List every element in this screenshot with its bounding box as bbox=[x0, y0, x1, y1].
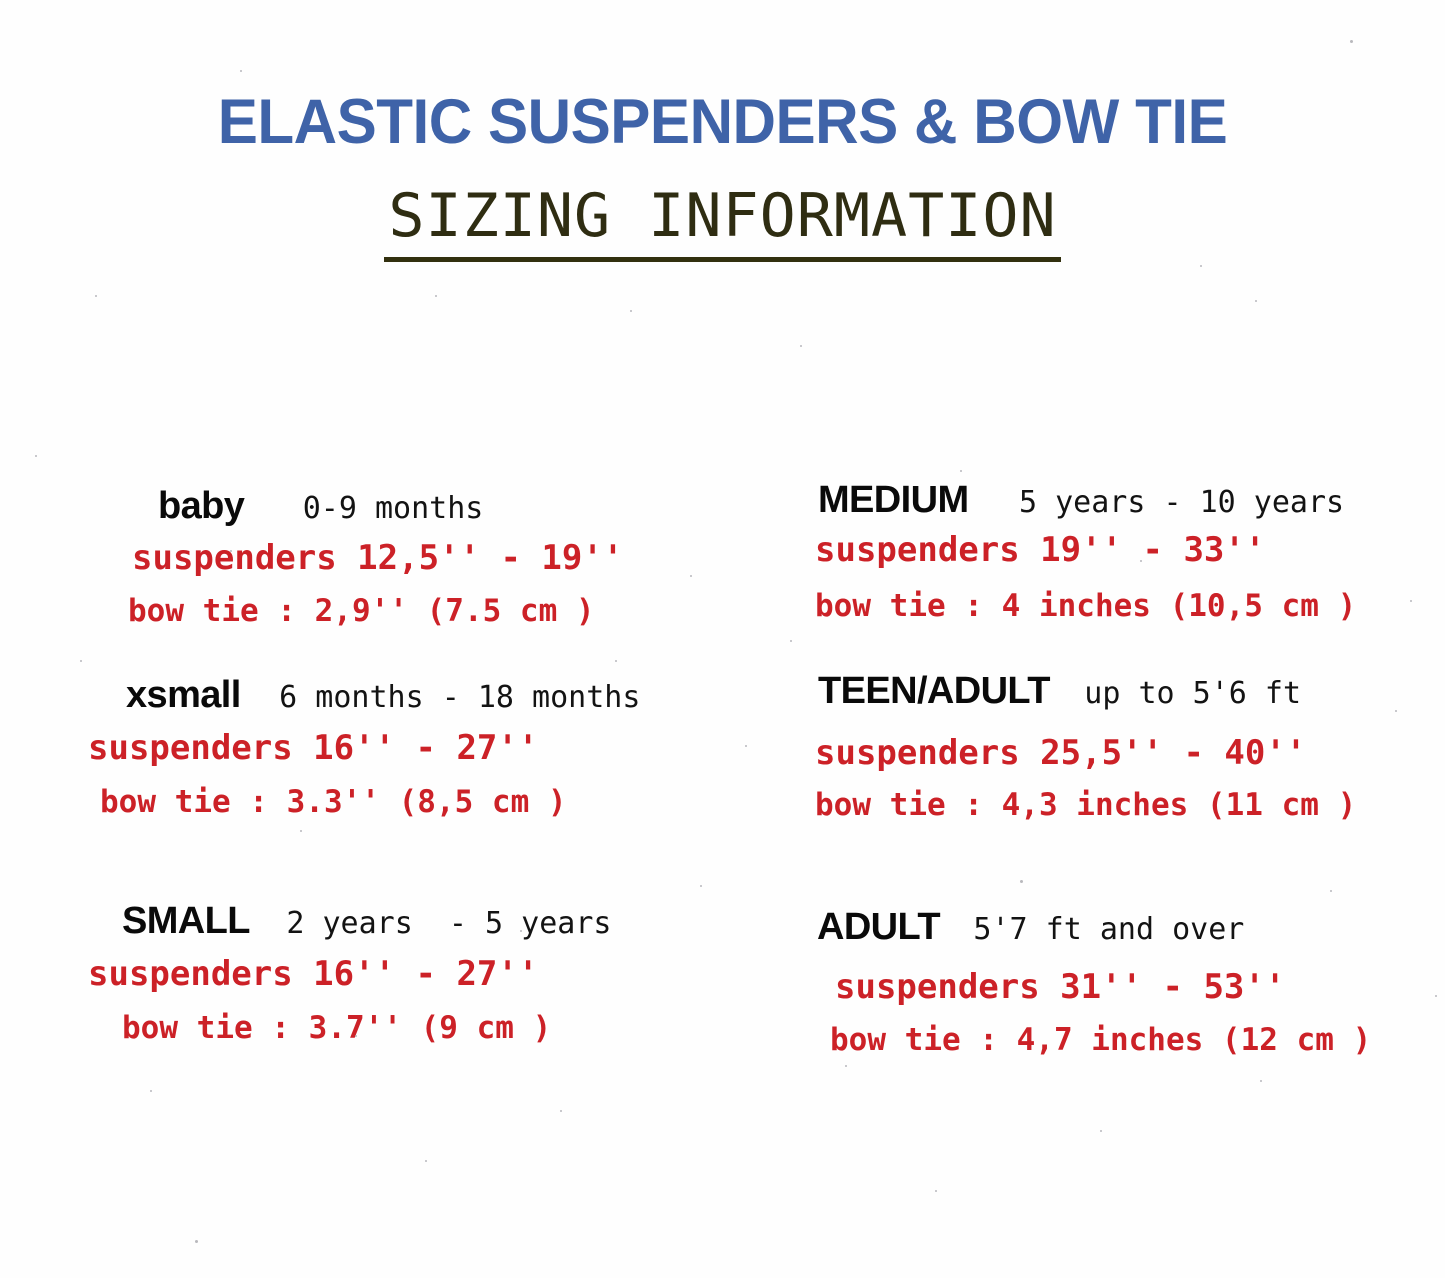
suspenders-measurement-small: suspenders 16'' - 27'' bbox=[0, 957, 700, 991]
size-header-medium: MEDIUM 5 years - 10 years bbox=[735, 481, 1435, 519]
bowtie-measurement-teen-adult: bow tie : 4,3 inches (11 cm ) bbox=[735, 790, 1435, 821]
bowtie-measurement-small: bow tie : 3.7'' (9 cm ) bbox=[0, 1013, 700, 1044]
size-column-left: baby 0-9 months suspenders 12,5'' - 19''… bbox=[0, 0, 700, 1278]
age-range-medium: 5 years - 10 years bbox=[1019, 488, 1344, 518]
size-block-adult: ADULT 5'7 ft and over suspenders 31'' - … bbox=[735, 908, 1435, 1056]
sizing-chart-page: ELASTIC SUSPENDERS & BOW TIE SIZING INFO… bbox=[0, 0, 1445, 1278]
bowtie-measurement-baby: bow tie : 2,9'' (7.5 cm ) bbox=[0, 596, 700, 627]
size-block-xsmall: xsmall 6 months - 18 months suspenders 1… bbox=[0, 676, 700, 818]
size-name-baby: baby bbox=[158, 487, 244, 525]
size-name-adult: ADULT bbox=[817, 908, 940, 946]
size-header-xsmall: xsmall 6 months - 18 months bbox=[0, 676, 700, 714]
bowtie-measurement-xsmall: bow tie : 3.3'' (8,5 cm ) bbox=[0, 787, 700, 818]
age-range-teen-adult: up to 5'6 ft bbox=[1084, 679, 1301, 709]
size-column-right: MEDIUM 5 years - 10 years suspenders 19'… bbox=[735, 0, 1435, 1278]
suspenders-measurement-teen-adult: suspenders 25,5'' - 40'' bbox=[735, 736, 1435, 770]
size-name-teen-adult: TEEN/ADULT bbox=[818, 672, 1050, 710]
size-header-baby: baby 0-9 months bbox=[0, 487, 700, 525]
age-range-baby: 0-9 months bbox=[303, 494, 484, 524]
size-header-teen-adult: TEEN/ADULT up to 5'6 ft bbox=[735, 672, 1435, 710]
size-name-small: SMALL bbox=[122, 902, 250, 940]
bowtie-measurement-adult: bow tie : 4,7 inches (12 cm ) bbox=[735, 1025, 1435, 1056]
size-block-small: SMALL 2 years - 5 years suspenders 16'' … bbox=[0, 902, 700, 1044]
size-block-baby: baby 0-9 months suspenders 12,5'' - 19''… bbox=[0, 487, 700, 627]
size-name-xsmall: xsmall bbox=[126, 676, 241, 714]
size-name-medium: MEDIUM bbox=[818, 481, 969, 519]
size-header-small: SMALL 2 years - 5 years bbox=[0, 902, 700, 940]
suspenders-measurement-xsmall: suspenders 16'' - 27'' bbox=[0, 731, 700, 765]
age-range-small: 2 years - 5 years bbox=[286, 909, 611, 939]
size-block-teen-adult: TEEN/ADULT up to 5'6 ft suspenders 25,5'… bbox=[735, 672, 1435, 821]
suspenders-measurement-adult: suspenders 31'' - 53'' bbox=[735, 970, 1435, 1004]
suspenders-measurement-baby: suspenders 12,5'' - 19'' bbox=[0, 541, 700, 575]
size-block-medium: MEDIUM 5 years - 10 years suspenders 19'… bbox=[735, 481, 1435, 622]
size-header-adult: ADULT 5'7 ft and over bbox=[735, 908, 1435, 946]
age-range-adult: 5'7 ft and over bbox=[973, 915, 1244, 945]
suspenders-measurement-medium: suspenders 19'' - 33'' bbox=[735, 533, 1435, 567]
age-range-xsmall: 6 months - 18 months bbox=[279, 683, 640, 713]
bowtie-measurement-medium: bow tie : 4 inches (10,5 cm ) bbox=[735, 591, 1435, 622]
